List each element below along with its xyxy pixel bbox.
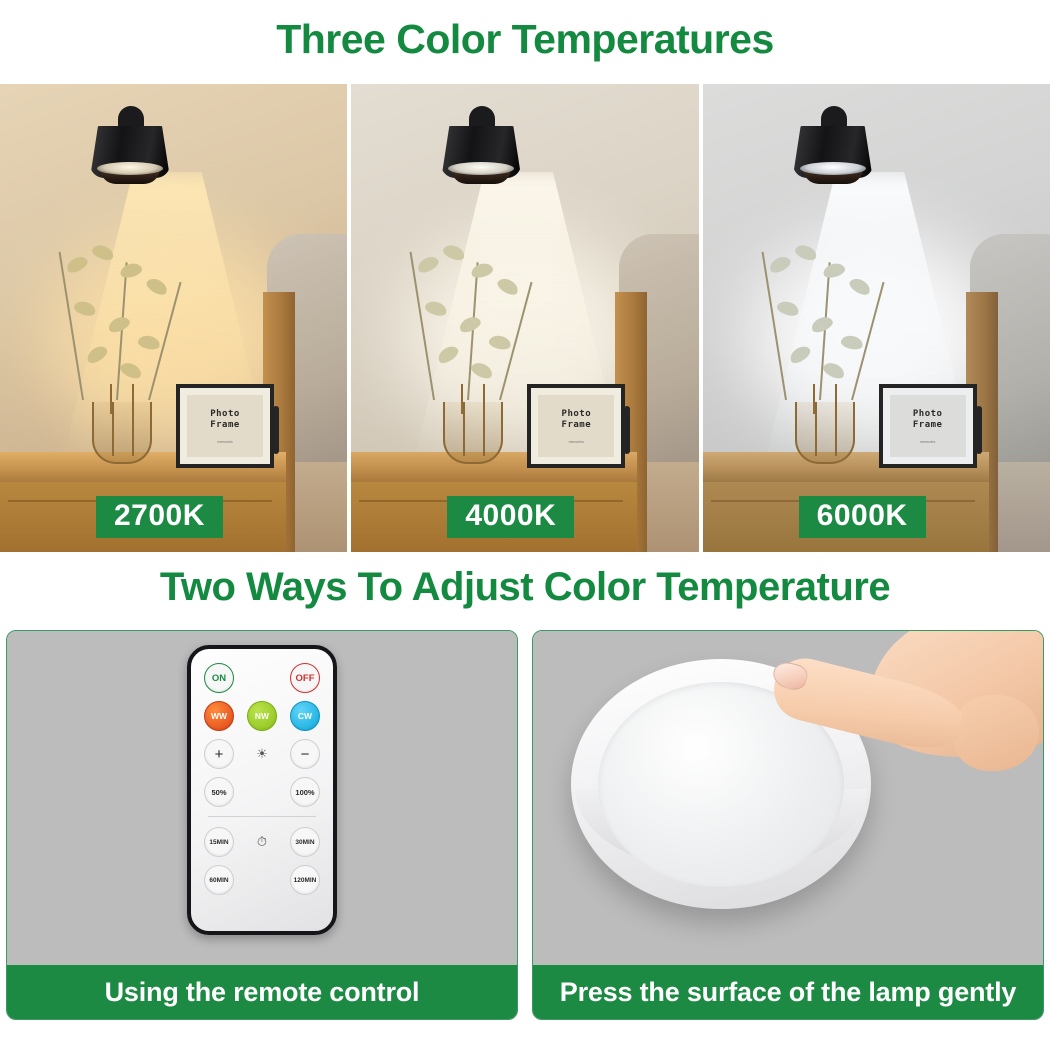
remote-timer-15min-button[interactable]: 15MIN: [204, 827, 234, 857]
remote-brightness-preset-row: 50% 100%: [204, 777, 320, 807]
remote-cool-white-button[interactable]: CW: [290, 701, 320, 731]
scene-panel-6000k: Photo Frame memories 6000K: [703, 84, 1050, 552]
scene-panel-4000k: Photo Frame memories 4000K: [351, 84, 698, 552]
remote-brightness-50-button[interactable]: 50%: [204, 777, 234, 807]
photo-frame-subtext: memories: [569, 440, 584, 444]
page-title-color-temperatures: Three Color Temperatures: [0, 0, 1050, 84]
remote-brightness-row: + ☀ −: [204, 739, 320, 769]
remote-brightness-up-button[interactable]: +: [204, 739, 234, 769]
plant-stems: [763, 240, 913, 400]
photo-frame-title-line1: Photo: [210, 409, 240, 419]
timer-icon: ⏱: [257, 834, 267, 850]
section-title-adjust-methods: Two Ways To Adjust Color Temperature: [0, 552, 1050, 630]
scene-panel-2700k: Photo Frame memories 2700K: [0, 84, 347, 552]
remote-warm-white-button[interactable]: WW: [204, 701, 234, 731]
remote-timer-120min-button[interactable]: 120MIN: [290, 865, 320, 895]
wire-vase: [789, 386, 861, 464]
wall-lamp-fixture-icon: [88, 106, 172, 188]
wall-lamp-fixture-icon: [439, 106, 523, 188]
badge-color-temperature-6000k: 6000K: [799, 496, 926, 538]
photo-frame-title-line2: Frame: [210, 420, 240, 430]
remote-timer-30min-button[interactable]: 30MIN: [290, 827, 320, 857]
hand-pointing: [749, 630, 1044, 837]
remote-brightness-down-button[interactable]: −: [290, 739, 320, 769]
remote-timer-60min-button[interactable]: 60MIN: [204, 865, 234, 895]
remote-divider: [208, 816, 316, 817]
photo-frame-title-line2: Frame: [562, 420, 592, 430]
remote-on-button[interactable]: ON: [204, 663, 234, 693]
photo-frame-title-line1: Photo: [913, 409, 943, 419]
badge-color-temperature-4000k: 4000K: [447, 496, 574, 538]
method-panel-touch-surface: Press the surface of the lamp gently: [532, 630, 1044, 1020]
method-caption-remote-control: Using the remote control: [7, 965, 517, 1019]
remote-color-mode-row: WW NW CW: [204, 701, 320, 731]
touch-lamp-illustration: [533, 631, 1043, 965]
remote-timer-row-top: 15MIN ⏱ 30MIN: [204, 827, 320, 857]
remote-power-row: ON OFF: [204, 663, 320, 693]
method-caption-touch-surface: Press the surface of the lamp gently: [533, 965, 1043, 1019]
remote-brightness-100-button[interactable]: 100%: [290, 777, 320, 807]
wire-vase: [86, 386, 158, 464]
photo-frame-title-line1: Photo: [562, 409, 592, 419]
remote-timer-row-bottom: 60MIN 120MIN: [204, 865, 320, 895]
photo-frame: Photo Frame memories: [879, 384, 977, 468]
photo-frame-title-line2: Frame: [913, 420, 943, 430]
method-panel-remote-control: ON OFF WW NW CW + ☀ − 50% 100%: [6, 630, 518, 1020]
badge-color-temperature-2700k: 2700K: [96, 496, 223, 538]
remote-control-device: ON OFF WW NW CW + ☀ − 50% 100%: [187, 645, 337, 935]
remote-natural-white-button[interactable]: NW: [247, 701, 277, 731]
photo-frame-subtext: memories: [920, 440, 935, 444]
photo-frame: Photo Frame memories: [176, 384, 274, 468]
wire-vase: [437, 386, 509, 464]
brightness-sun-icon: ☀: [256, 746, 268, 762]
remote-control-illustration: ON OFF WW NW CW + ☀ − 50% 100%: [7, 631, 517, 965]
plant-stems: [60, 240, 210, 400]
wall-lamp-fixture-icon: [791, 106, 875, 188]
adjust-methods-gallery: ON OFF WW NW CW + ☀ − 50% 100%: [0, 630, 1050, 1020]
remote-off-button[interactable]: OFF: [290, 663, 320, 693]
plant-stems: [411, 240, 561, 400]
color-temperature-gallery: Photo Frame memories 2700K: [0, 84, 1050, 552]
photo-frame: Photo Frame memories: [527, 384, 625, 468]
photo-frame-subtext: memories: [217, 440, 232, 444]
